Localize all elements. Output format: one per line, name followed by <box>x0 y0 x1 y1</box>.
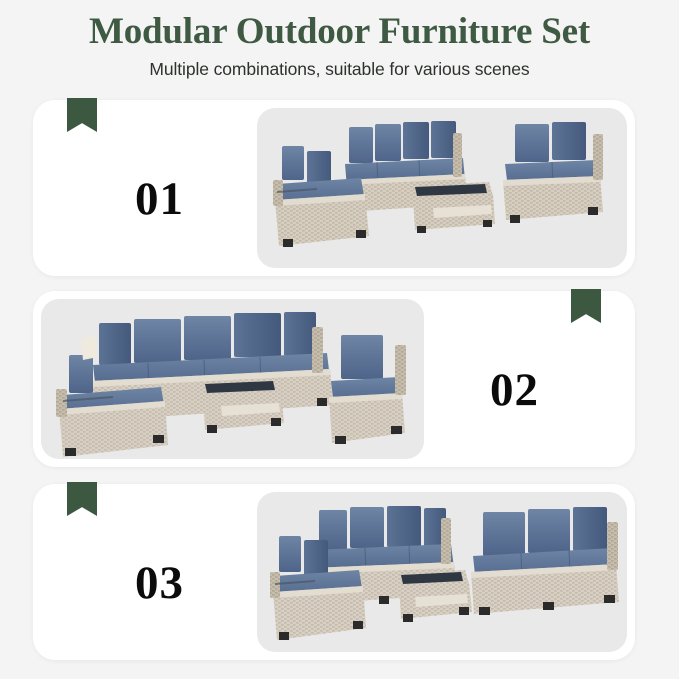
bookmark-ribbon-icon <box>571 289 601 323</box>
bookmark-ribbon-icon <box>67 482 97 516</box>
configuration-02-illustration <box>41 299 424 459</box>
furniture-photo-03 <box>257 492 627 652</box>
combination-card-01[interactable]: 01 <box>33 100 635 276</box>
bookmark-ribbon-icon <box>67 98 97 132</box>
page-title: Modular Outdoor Furniture Set <box>0 11 679 52</box>
furniture-photo-02 <box>41 299 424 459</box>
combination-card-03[interactable]: 03 <box>33 484 635 660</box>
page-header: Modular Outdoor Furniture Set Multiple c… <box>0 0 679 80</box>
card-number-02: 02 <box>490 363 539 417</box>
page-subtitle: Multiple combinations, suitable for vari… <box>0 59 679 80</box>
furniture-photo-01 <box>257 108 627 268</box>
card-number-01: 01 <box>135 172 184 226</box>
combination-card-02[interactable]: 02 <box>33 291 635 467</box>
configuration-03-illustration <box>257 492 627 652</box>
configuration-01-illustration <box>257 108 627 268</box>
card-number-03: 03 <box>135 556 184 610</box>
